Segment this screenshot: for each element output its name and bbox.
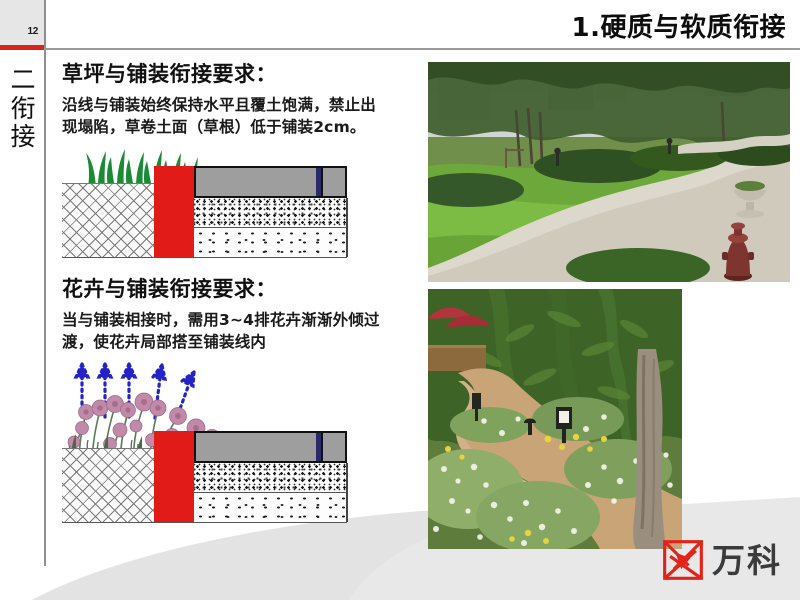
- base-right-edge: [346, 198, 348, 257]
- page-title: 1.硬质与软质衔接: [572, 7, 786, 44]
- diagram-lawn-to-paving: [62, 147, 334, 257]
- section-2-heading: 花卉与铺装衔接要求：: [62, 273, 412, 303]
- section-1-heading: 草坪与铺装衔接要求：: [62, 58, 412, 88]
- paver-block-main-2: [194, 431, 318, 463]
- photo-lawn-path: [428, 62, 790, 282]
- sidebar-divider-line: [44, 0, 46, 566]
- vanke-logo-text: 万科: [712, 544, 782, 577]
- sidebar-red-accent-bar: [0, 45, 44, 50]
- red-curb-edge-2: [154, 431, 194, 522]
- sidebar-page-block: [0, 0, 44, 45]
- paver-block-edge-2: [321, 431, 347, 463]
- section-2-body: 当与铺装相接时，需用3~4排花卉渐渐外倾过渡，使花卉局部搭至铺装线内: [62, 309, 382, 354]
- gravel-base-layer-2: [194, 463, 347, 492]
- header-rule: [44, 48, 800, 50]
- paver-block-edge: [321, 166, 347, 198]
- ground-line-2: [62, 522, 347, 524]
- vanke-logo: 万科: [661, 538, 782, 582]
- vanke-mark-icon: [661, 538, 705, 582]
- paver-block-main: [194, 166, 318, 198]
- page-number: 12: [0, 26, 38, 37]
- gravel-base-layer: [194, 198, 347, 227]
- section-1-body: 沿线与铺装始终保持水平且覆土饱满，禁止出现塌陷，草卷土面（草根）低于铺装2cm。: [62, 94, 382, 139]
- diagram-flowers-to-paving: [62, 362, 334, 522]
- left-content-column: 草坪与铺装衔接要求： 沿线与铺装始终保持水平且覆土饱满，禁止出现塌陷，草卷土面（…: [62, 58, 412, 522]
- base-right-edge-2: [346, 463, 348, 522]
- photo-flower-border-path: [428, 289, 682, 549]
- subbase-layer: [194, 229, 347, 257]
- photo1-scene: [428, 62, 790, 282]
- sidebar-chapter-marker: 二 衔 接: [6, 66, 40, 152]
- sidebar-label-char-2: 接: [6, 123, 40, 152]
- ground-line: [62, 257, 347, 259]
- red-curb-edge: [154, 166, 194, 257]
- subbase-layer-2: [194, 494, 347, 522]
- sidebar-label-char-1: 衔: [6, 95, 40, 124]
- photo2-scene: [428, 289, 682, 549]
- slide-canvas: 12 二 衔 接 1.硬质与软质衔接 草坪与铺装衔接要求： 沿线与铺装始终保持水…: [0, 0, 800, 600]
- sidebar-chapter-number: 二: [6, 66, 40, 95]
